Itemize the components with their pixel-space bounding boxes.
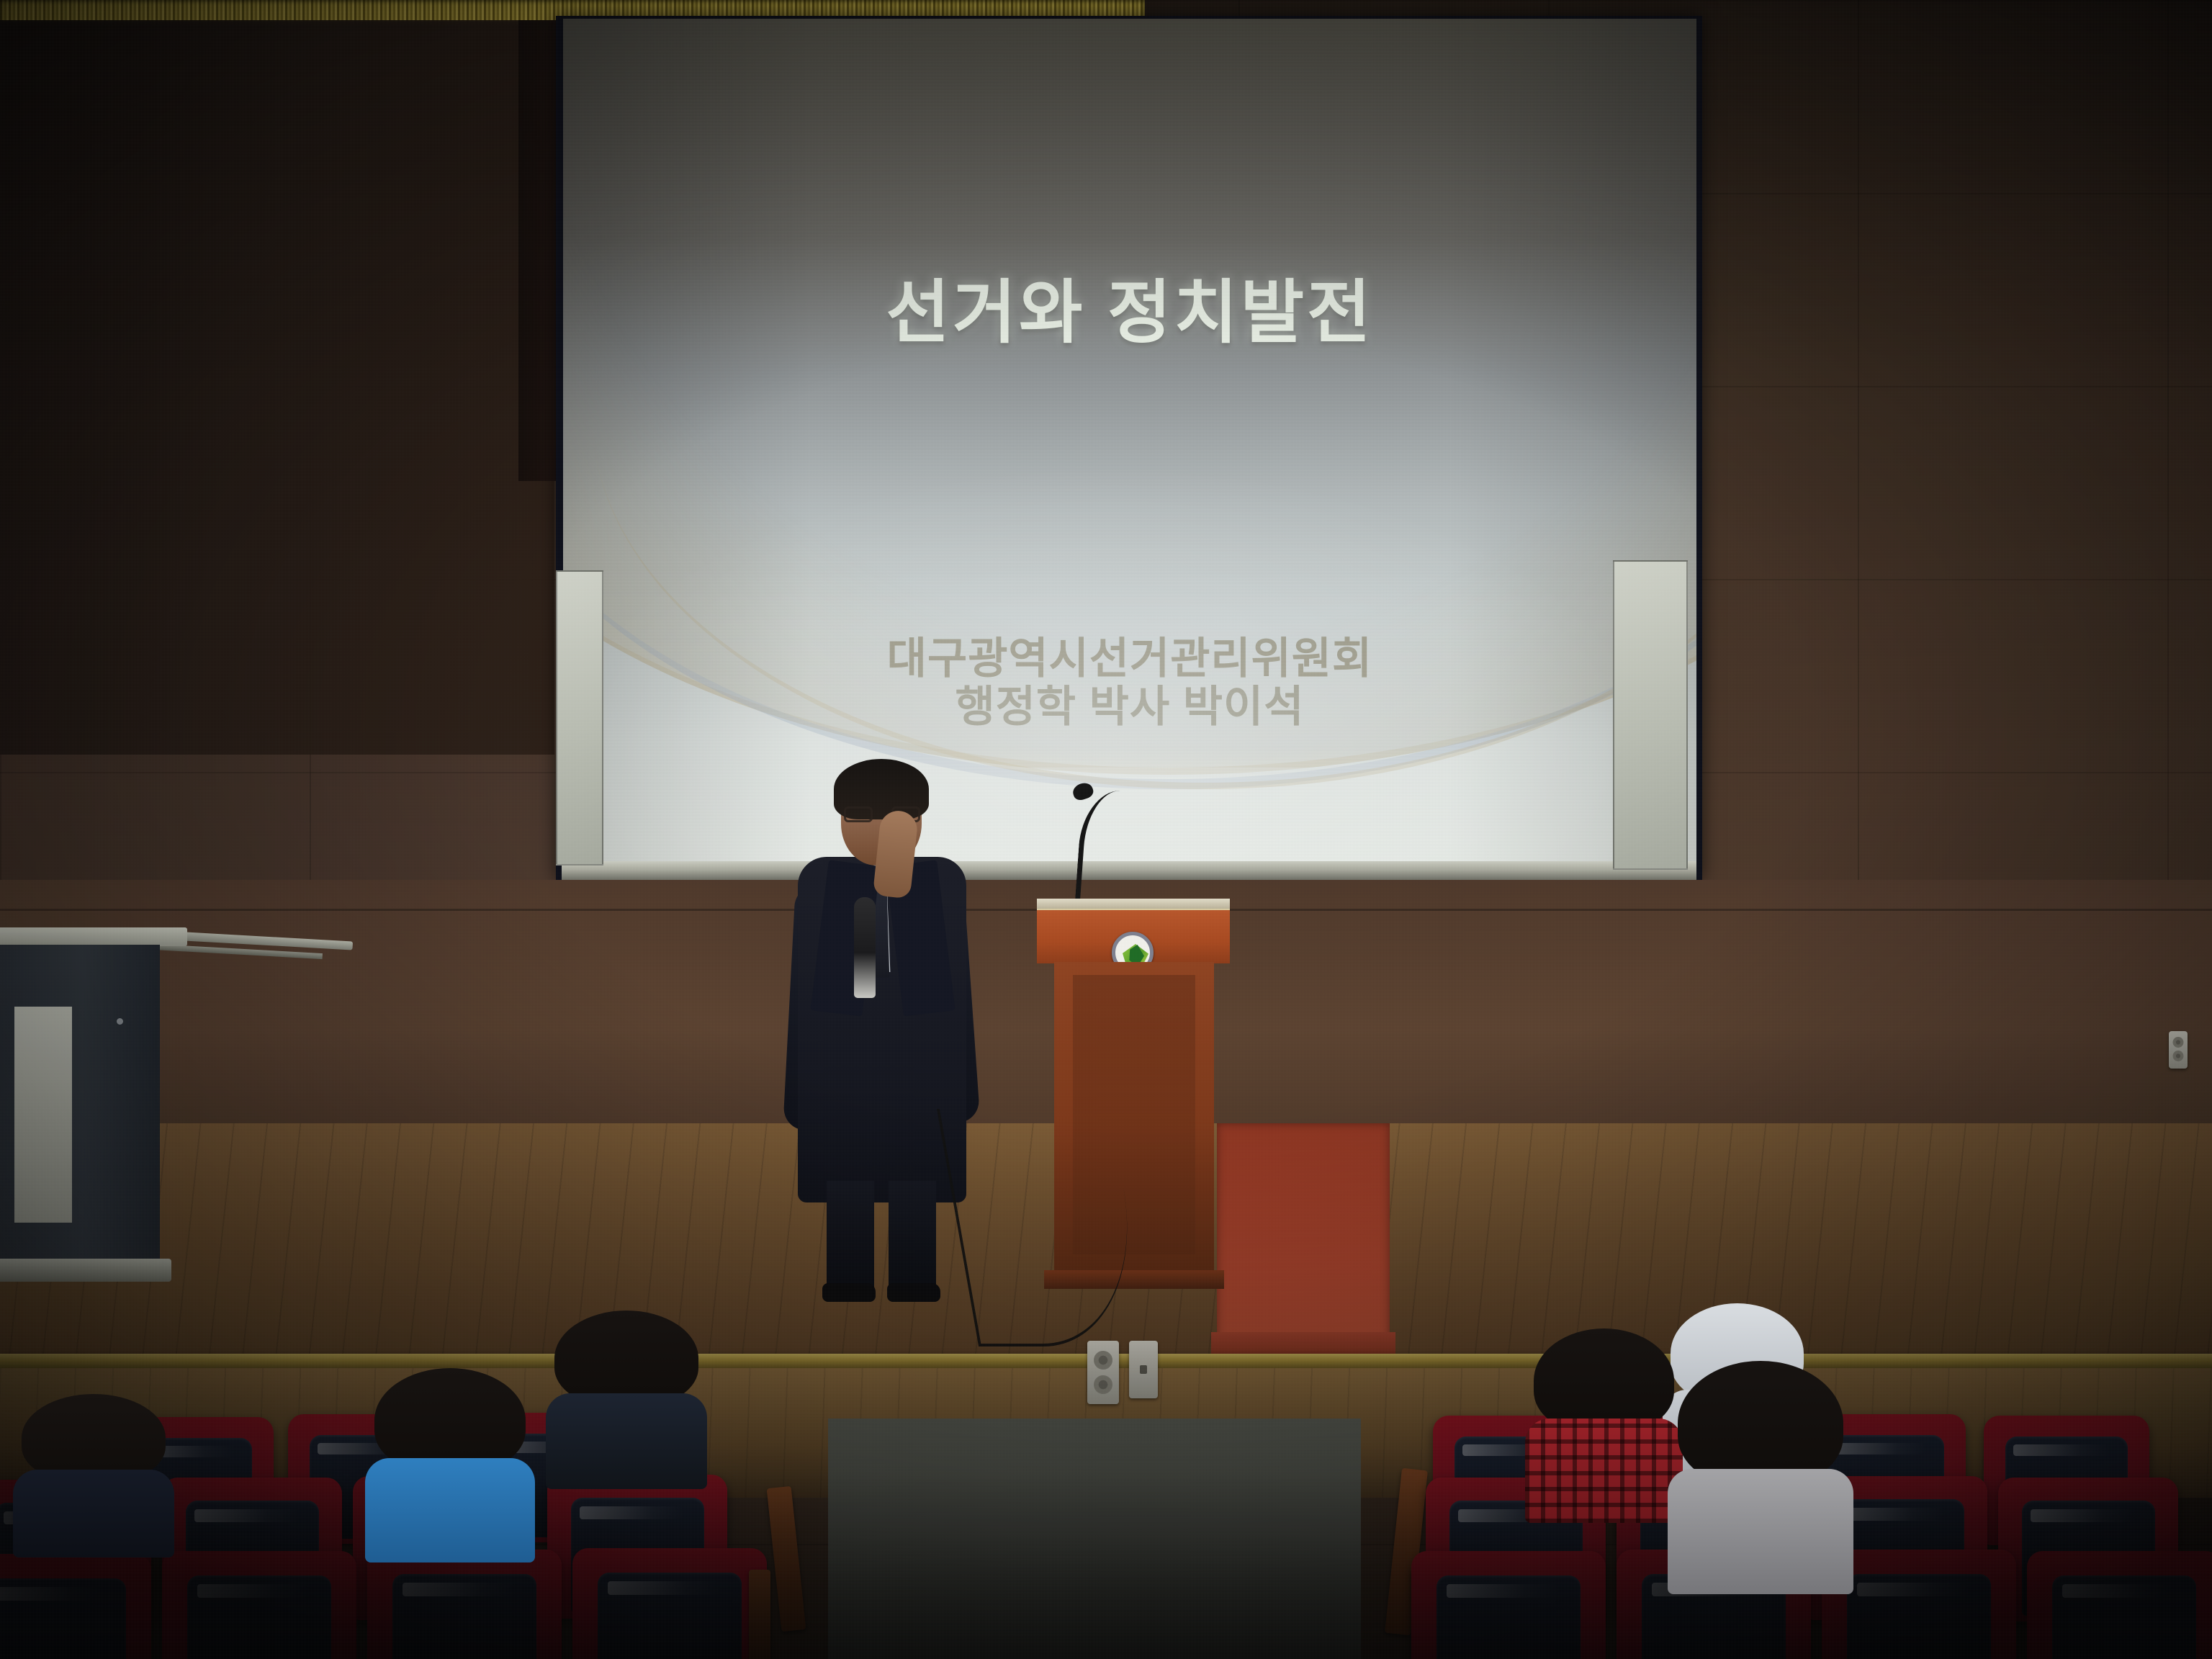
attendee-plaid-shirt bbox=[1534, 1328, 1674, 1509]
speaker-shoe-right bbox=[887, 1283, 940, 1302]
speaker-presenter bbox=[785, 749, 979, 1303]
seat[interactable] bbox=[367, 1550, 562, 1659]
speaker-legs bbox=[827, 1181, 942, 1303]
slide-subtitle-presenter: 행정학 박사 박이석 bbox=[563, 683, 1696, 731]
seat[interactable] bbox=[0, 1554, 151, 1659]
red-carpet-runner bbox=[1217, 1123, 1390, 1361]
attendee-blue-shirt bbox=[374, 1368, 526, 1548]
screen-roller-bar bbox=[562, 861, 1696, 880]
slide-title: 선거와 정치발전 bbox=[563, 256, 1696, 356]
av-control-console bbox=[0, 927, 223, 1302]
center-aisle-floor bbox=[828, 1419, 1361, 1659]
armrest bbox=[767, 1486, 806, 1632]
left-stage-drape bbox=[0, 20, 554, 755]
seat[interactable] bbox=[2027, 1551, 2212, 1659]
slide-subtitle-group: 대구광역시선거관리위원회 행정학 박사 박이석 bbox=[563, 634, 1696, 731]
acoustic-panel-left bbox=[556, 570, 603, 866]
audience-seating-area bbox=[0, 1354, 2212, 1659]
seat[interactable] bbox=[162, 1551, 356, 1659]
console-base bbox=[0, 1259, 171, 1282]
attendee-front-left bbox=[22, 1394, 166, 1545]
screen-noise bbox=[563, 19, 1696, 861]
acoustic-panel-right bbox=[1613, 560, 1688, 870]
projection-screen-frame: 선거와 정치발전 대구광역시선거관리위원회 행정학 박사 박이석 bbox=[556, 16, 1702, 880]
slide-subtitle-organization: 대구광역시선거관리위원회 bbox=[563, 634, 1696, 683]
speaker-shoe-left bbox=[822, 1283, 876, 1302]
projection-screen: 선거와 정치발전 대구광역시선거관리위원회 행정학 박사 박이석 bbox=[563, 19, 1696, 861]
console-front-panel bbox=[14, 1007, 72, 1223]
auditorium-photo: 선거와 정치발전 대구광역시선거관리위원회 행정학 박사 박이석 bbox=[0, 0, 2212, 1659]
handheld-microphone bbox=[854, 897, 876, 998]
console-body bbox=[0, 945, 160, 1262]
console-indicator-led bbox=[117, 1018, 123, 1025]
armrest bbox=[749, 1570, 770, 1659]
attendee-gray-hoodie bbox=[1678, 1361, 1843, 1577]
console-top-surface bbox=[0, 927, 187, 946]
power-outlet-right-wall bbox=[2169, 1031, 2188, 1069]
podium-front-panel bbox=[1037, 909, 1230, 963]
seat[interactable] bbox=[1411, 1551, 1606, 1659]
seat[interactable] bbox=[572, 1548, 767, 1659]
attendee-black-jacket bbox=[554, 1310, 698, 1476]
screen-sheen bbox=[563, 19, 1696, 861]
